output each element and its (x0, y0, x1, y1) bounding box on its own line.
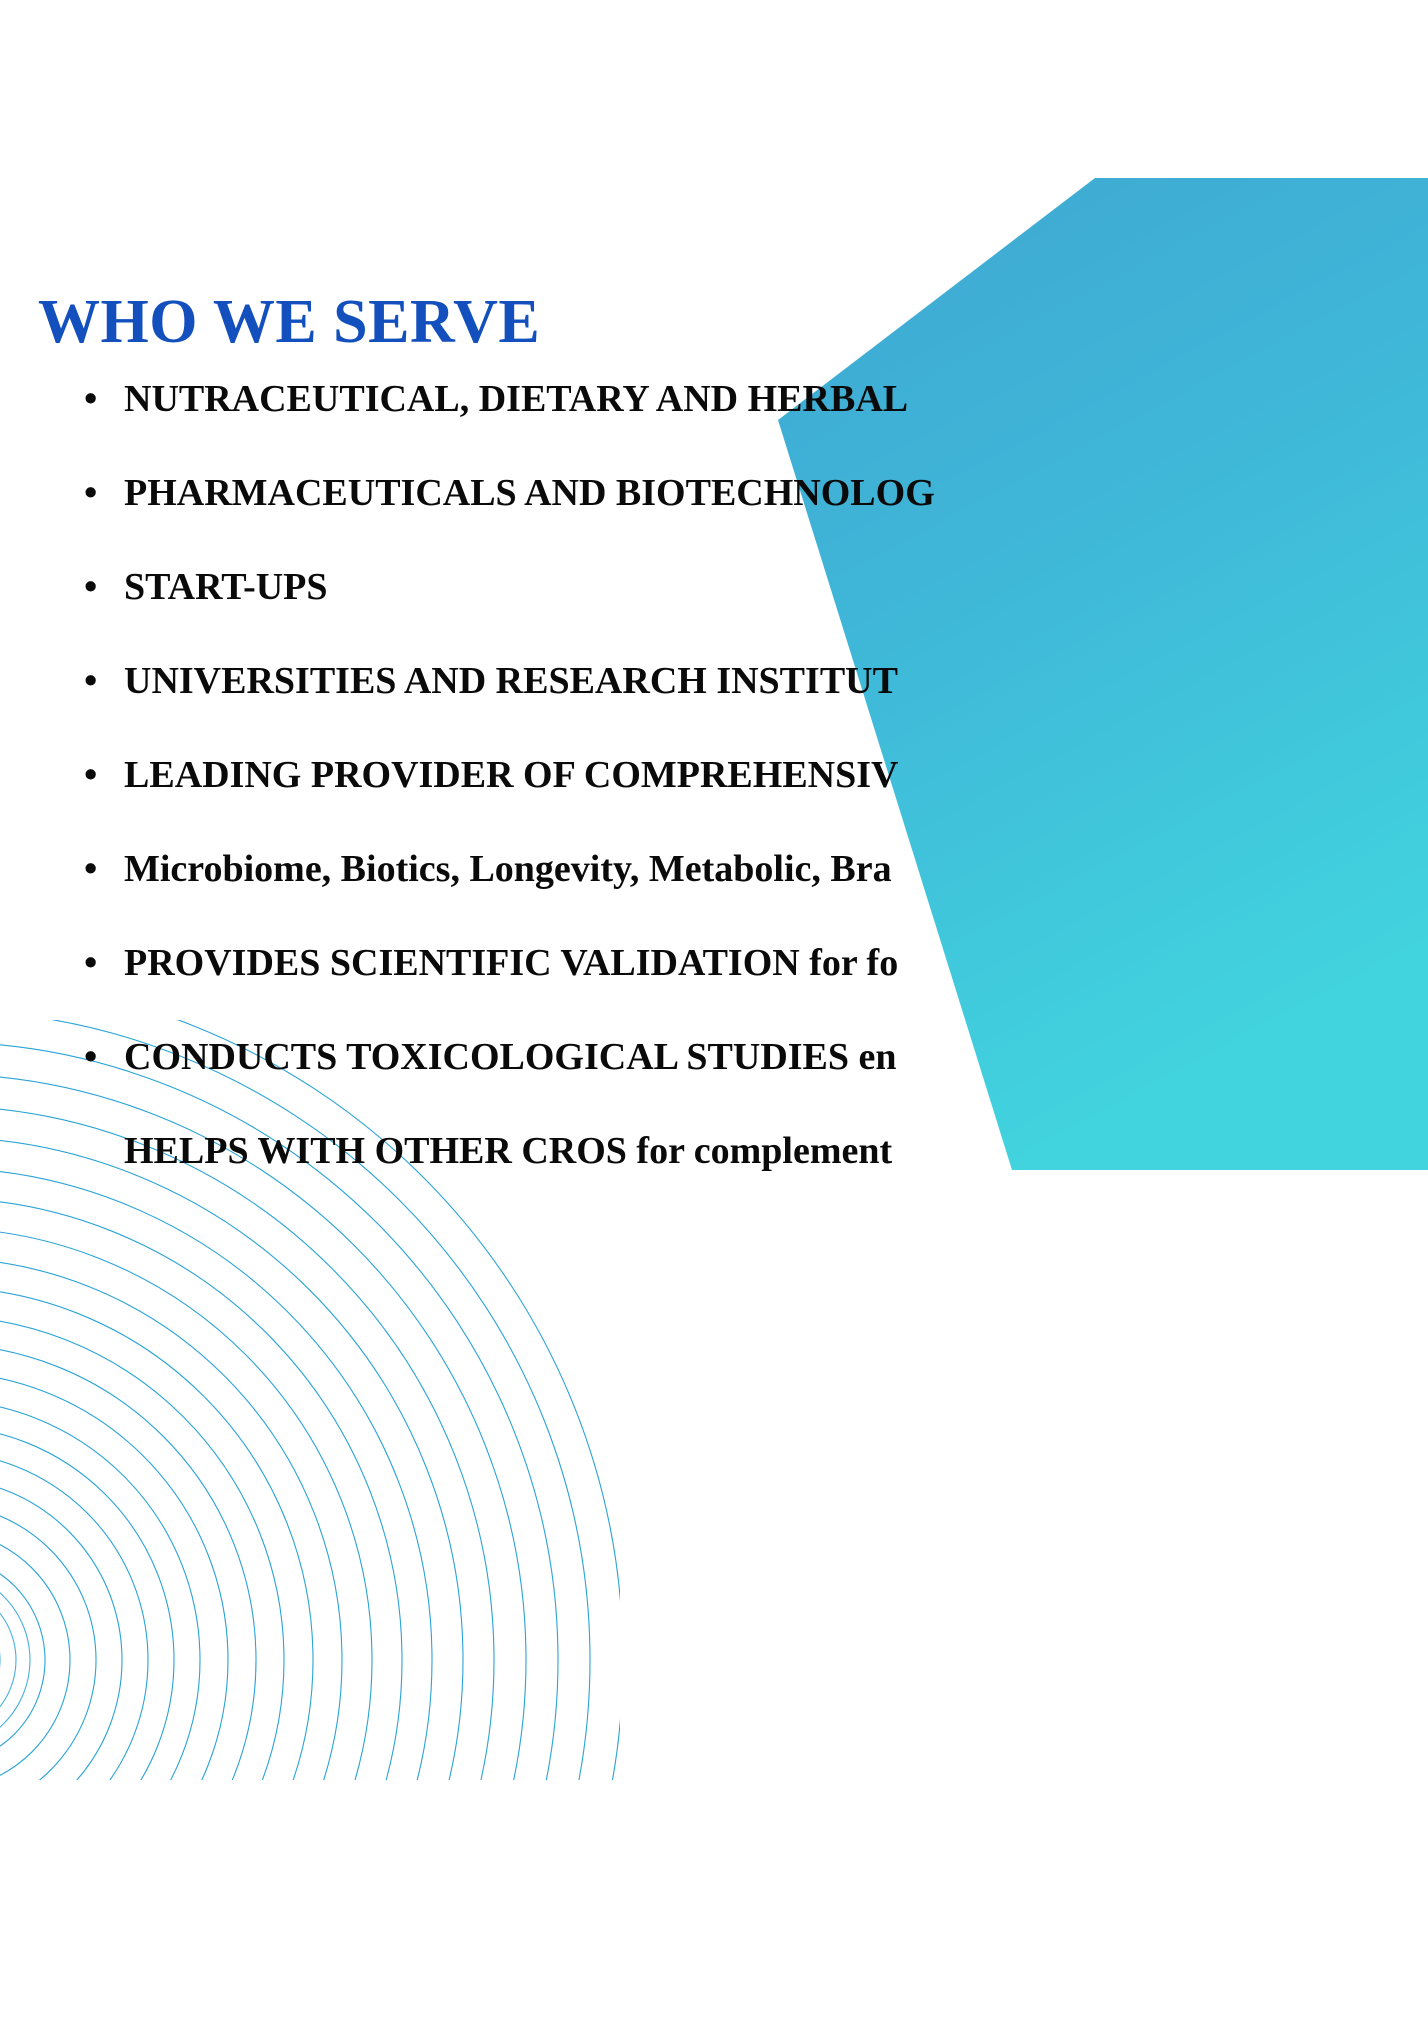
bullet-marker-icon: • (84, 540, 97, 634)
list-item: • Microbiome, Biotics, Longevity, Metabo… (78, 822, 1428, 916)
list-item-label: PROVIDES SCIENTIFIC VALIDATION for fo (124, 916, 898, 1010)
bullet-marker-icon: • (84, 822, 97, 916)
bullet-marker-icon: • (84, 634, 97, 728)
list-item-label: Microbiome, Biotics, Longevity, Metaboli… (124, 822, 892, 916)
list-item-label: CONDUCTS TOXICOLOGICAL STUDIES en (124, 1010, 897, 1104)
slide-canvas: WHO WE SERVE • NUTRACEUTICAL, DIETARY AN… (0, 0, 1428, 2018)
list-item: • NUTRACEUTICAL, DIETARY AND HERBAL (78, 352, 1428, 446)
bullet-marker-icon: • (84, 352, 97, 446)
list-item: • PROVIDES SCIENTIFIC VALIDATION for fo (78, 916, 1428, 1010)
bullet-marker-icon: • (84, 446, 97, 540)
list-item-label: PHARMACEUTICALS AND BIOTECHNOLOG (124, 446, 935, 540)
list-item-label: HELPS WITH OTHER CROS for complement (124, 1104, 892, 1198)
bullet-marker-icon: • (84, 1010, 97, 1104)
list-item-label: START-UPS (124, 540, 328, 634)
list-item-label: LEADING PROVIDER OF COMPREHENSIV (124, 728, 898, 822)
page-title: WHO WE SERVE (38, 290, 540, 355)
list-item: • START-UPS (78, 540, 1428, 634)
list-item: • HELPS WITH OTHER CROS for complement (78, 1104, 1428, 1198)
list-item-label: UNIVERSITIES AND RESEARCH INSTITUT (124, 634, 898, 728)
list-item: • CONDUCTS TOXICOLOGICAL STUDIES en (78, 1010, 1428, 1104)
slide-content: WHO WE SERVE • NUTRACEUTICAL, DIETARY AN… (0, 0, 1428, 2018)
bullet-marker-icon: • (84, 916, 97, 1010)
list-item: • UNIVERSITIES AND RESEARCH INSTITUT (78, 634, 1428, 728)
list-item: • LEADING PROVIDER OF COMPREHENSIV (78, 728, 1428, 822)
bullet-list: • NUTRACEUTICAL, DIETARY AND HERBAL • PH… (78, 352, 1428, 1198)
list-item-label: NUTRACEUTICAL, DIETARY AND HERBAL (124, 352, 908, 446)
list-item: • PHARMACEUTICALS AND BIOTECHNOLOG (78, 446, 1428, 540)
bullet-marker-icon: • (84, 728, 97, 822)
